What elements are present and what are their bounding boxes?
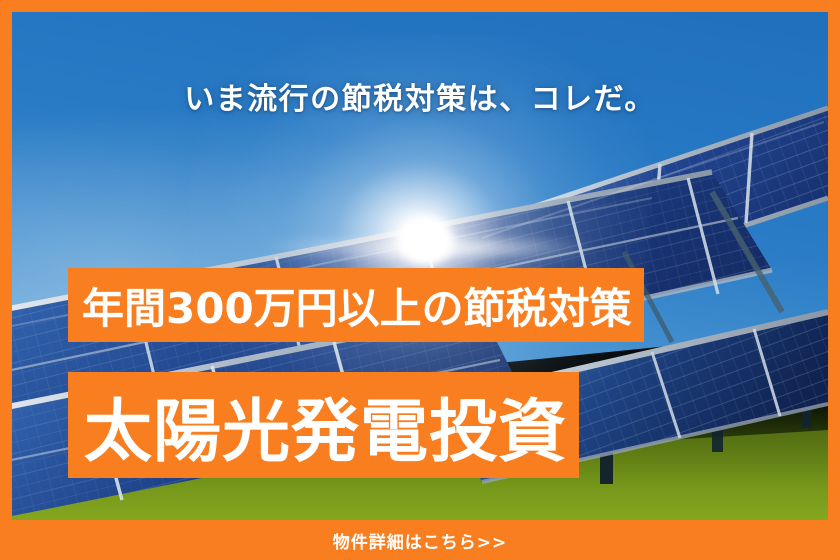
solar-investment-banner: いま流行の節税対策は、コレだ。 年間300万円以上の節税対策 太陽光発電投資 物… bbox=[0, 0, 840, 560]
footer-bar: 物件詳細はこちら>> bbox=[0, 520, 840, 560]
savings-amount-text: 年間300万円以上の節税対策 bbox=[82, 275, 632, 336]
product-name-band: 太陽光発電投資 bbox=[68, 372, 579, 478]
product-name-text: 太陽光発電投資 bbox=[84, 376, 567, 475]
page-title: いま流行の節税対策は、コレだ。 bbox=[0, 82, 840, 118]
savings-amount-band: 年間300万円以上の節税対策 bbox=[68, 268, 644, 342]
property-details-link[interactable]: 物件詳細はこちら>> bbox=[333, 528, 508, 553]
sun-core-icon bbox=[398, 217, 454, 265]
